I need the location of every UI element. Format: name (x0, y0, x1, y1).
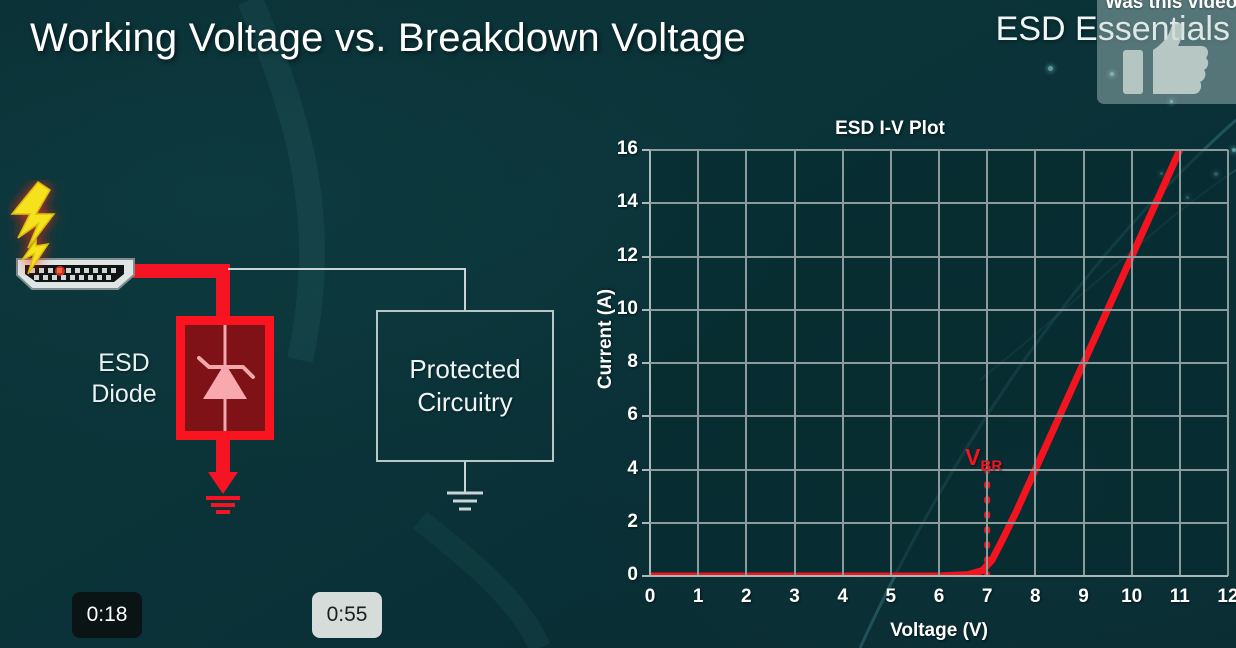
protected-circuitry-component[interactable]: Protected Circuitry (376, 310, 554, 462)
esd-protection-circuit-diagram: ESD Diode Protected Circuitry (0, 150, 600, 570)
chart-x-tick-label: 2 (726, 586, 766, 608)
chart-gridline-horizontal (650, 575, 1228, 577)
esd-diode-label: ESD Diode (78, 348, 170, 411)
chart-x-tick-label: 5 (871, 586, 911, 608)
chart-x-axis-label: Voltage (V) (650, 620, 1228, 642)
esd-diode-label-line1: ESD (98, 349, 149, 377)
vbr-annotation-main: V (965, 444, 980, 470)
chart-x-tick-label: 9 (1064, 586, 1104, 608)
esd-diode-label-line2: Diode (78, 379, 170, 410)
protected-label-line1: Protected (409, 354, 520, 384)
chart-gridline-horizontal (650, 415, 1228, 417)
chart-y-tick-mark (642, 469, 650, 471)
chart-gridline-horizontal (650, 202, 1228, 204)
chart-x-tick-label: 12 (1208, 586, 1236, 608)
vbr-annotation-label: VBR (965, 444, 1002, 475)
chart-x-tick-label: 7 (967, 586, 1007, 608)
protected-ground-wire (464, 462, 466, 492)
feedback-prompt-text: Was this video helpful? (1105, 0, 1236, 14)
chart-y-tick-label: 2 (588, 511, 638, 533)
chart-y-tick-mark (642, 362, 650, 364)
chart-gridline-horizontal (650, 256, 1228, 258)
protected-label-line2: Circuitry (417, 387, 512, 417)
chart-y-tick-mark (642, 256, 650, 258)
chart-y-tick-label: 12 (588, 245, 638, 267)
chart-gridline-horizontal (650, 469, 1228, 471)
chart-x-tick-label: 8 (1015, 586, 1055, 608)
page-title: Working Voltage vs. Breakdown Voltage (30, 16, 746, 61)
thumbs-up-icon[interactable] (1121, 20, 1211, 100)
signal-wire-vertical (464, 268, 466, 312)
timestamp-badge-end[interactable]: 0:55 (312, 592, 382, 638)
chart-x-tick-label: 0 (630, 586, 670, 608)
sparkle (1048, 66, 1053, 71)
feedback-overlay-panel[interactable]: Was this video helpful? (1097, 0, 1236, 104)
chart-y-tick-label: 4 (588, 458, 638, 480)
chart-x-tick-label: 3 (775, 586, 815, 608)
lightning-bolt-icon (8, 180, 80, 276)
chart-x-tick-label: 4 (823, 586, 863, 608)
chart-x-tick-label: 10 (1112, 586, 1152, 608)
chart-gridline-horizontal (650, 522, 1228, 524)
chart-y-tick-mark (642, 415, 650, 417)
chart-x-tick-label: 11 (1160, 586, 1200, 608)
chart-gridline-horizontal (650, 309, 1228, 311)
protected-circuitry-label: Protected Circuitry (409, 353, 520, 420)
chart-gridline-horizontal (650, 362, 1228, 364)
timestamp-badge-start[interactable]: 0:18 (72, 592, 142, 638)
chart-x-tick-label: 6 (919, 586, 959, 608)
chart-plot-area (650, 150, 1228, 576)
chart-title: ESD I-V Plot (580, 118, 1200, 140)
chart-y-axis-label: Current (A) (595, 259, 617, 419)
chart-x-tick-label: 1 (678, 586, 718, 608)
ground-symbol-icon (444, 490, 486, 516)
chart-y-tick-label: 8 (588, 351, 638, 373)
esd-current-path-horizontal (132, 264, 228, 278)
chart-y-tick-mark (642, 202, 650, 204)
tvs-zener-diode-icon (185, 325, 265, 431)
chart-y-tick-label: 6 (588, 404, 638, 426)
vbr-annotation-sub: BR (981, 457, 1003, 474)
chart-gridline-horizontal (650, 149, 1228, 151)
chart-y-tick-mark (642, 309, 650, 311)
slide-canvas: Working Voltage vs. Breakdown Voltage ES… (0, 0, 1236, 648)
chart-y-tick-mark (642, 149, 650, 151)
ground-symbol-icon (200, 468, 246, 516)
esd-iv-chart: ESD I-V Plot Current (A) Voltage (V) VBR… (580, 110, 1236, 648)
chart-y-tick-label: 0 (588, 564, 638, 586)
signal-wire-horizontal (228, 268, 466, 270)
esd-diode-component[interactable] (176, 316, 274, 440)
chart-y-tick-label: 16 (588, 138, 638, 160)
chart-y-tick-mark (642, 522, 650, 524)
chart-y-tick-label: 14 (588, 191, 638, 213)
chart-y-tick-label: 10 (588, 298, 638, 320)
chart-y-tick-mark (642, 575, 650, 577)
